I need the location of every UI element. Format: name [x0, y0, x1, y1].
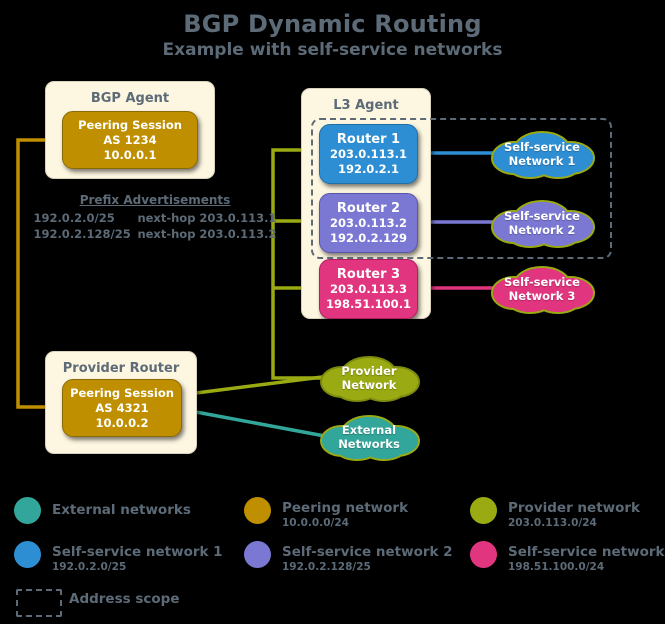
- address-scope-boundary: [311, 118, 612, 259]
- provider-network-swatch-icon: [470, 497, 497, 524]
- router-3-name: Router 3: [337, 267, 400, 282]
- bgp-agent-title: BGP Agent: [46, 91, 214, 106]
- cloud-external-line2: Networks: [338, 437, 400, 451]
- external-networks-swatch-icon: [14, 497, 41, 524]
- legend-label: Self-service network 1: [52, 544, 223, 560]
- legend-sublabel: 10.0.0.0/24: [282, 516, 408, 530]
- provider-peering-as: AS 4321: [95, 401, 148, 416]
- legend: External networks Peering network 10.0.0…: [0, 487, 665, 624]
- legend-label: Peering network: [282, 500, 408, 516]
- cloud-external-networks[interactable]: External Networks: [315, 412, 423, 462]
- legend-label: Address scope: [69, 591, 180, 607]
- legend-sublabel: 192.0.2.128/25: [282, 560, 453, 574]
- provider-peering-ip: 10.0.0.2: [95, 416, 148, 431]
- router-3[interactable]: Router 3 203.0.113.3 198.51.100.1: [319, 259, 418, 319]
- prefix-advertisements-heading: Prefix Advertisements: [30, 193, 280, 207]
- legend-label: Self-service network 3: [508, 544, 665, 560]
- cloud-selfservice-network-3[interactable]: Self-service Network 3: [486, 263, 598, 315]
- prefix-row: 192.0.2.0/25 next-hop 203.0.113.1: [30, 210, 280, 226]
- provider-router-title: Provider Router: [46, 361, 196, 376]
- peering-network-swatch-icon: [244, 497, 271, 524]
- prefix-row: 192.0.2.128/25 next-hop 203.0.113.2: [30, 226, 280, 242]
- cloud-provider-line2: Network: [342, 378, 397, 392]
- page-subtitle: Example with self-service networks: [0, 40, 665, 60]
- bgp-peering-label: Peering Session: [78, 118, 182, 133]
- cloud-selfservice-3-line1: Self-service: [504, 275, 580, 289]
- bgp-peering-as: AS 1234: [103, 133, 156, 148]
- prefix-value: 192.0.2.128/25: [33, 226, 137, 242]
- router-3-ip2: 198.51.100.1: [326, 297, 411, 312]
- page-title: BGP Dynamic Routing: [0, 10, 665, 38]
- cloud-external-line1: External: [342, 423, 396, 437]
- prefix-nexthop: next-hop 203.0.113.1: [137, 210, 276, 226]
- router-3-ip1: 203.0.113.3: [330, 282, 407, 297]
- legend-sublabel: 203.0.113.0/24: [508, 516, 640, 530]
- prefix-nexthop: next-hop 203.0.113.2: [137, 226, 276, 242]
- selfservice-1-swatch-icon: [14, 541, 41, 568]
- bgp-peering-ip: 10.0.0.1: [103, 148, 156, 163]
- bgp-agent-peering-session[interactable]: Peering Session AS 1234 10.0.0.1: [62, 111, 198, 169]
- nodes-layer: BGP Dynamic Routing Example with self-se…: [0, 0, 665, 624]
- cloud-selfservice-3-line2: Network 3: [509, 289, 576, 303]
- prefix-advertisements: Prefix Advertisements 192.0.2.0/25 next-…: [30, 193, 280, 242]
- l3-agent-title: L3 Agent: [302, 98, 430, 113]
- provider-router-peering-session[interactable]: Peering Session AS 4321 10.0.0.2: [62, 379, 182, 437]
- cloud-provider-line1: Provider: [341, 364, 396, 378]
- address-scope-swatch-icon: [16, 589, 62, 617]
- legend-label: Self-service network 2: [282, 544, 453, 560]
- legend-sublabel: 198.51.100.0/24: [508, 560, 665, 574]
- selfservice-2-swatch-icon: [244, 541, 271, 568]
- diagram-canvas: BGP Dynamic Routing Example with self-se…: [0, 0, 665, 624]
- legend-label: External networks: [52, 497, 191, 524]
- provider-peering-label: Peering Session: [70, 386, 174, 401]
- legend-item-address-scope[interactable]: Address scope: [14, 587, 274, 617]
- cloud-provider-network[interactable]: Provider Network: [315, 353, 423, 403]
- legend-label: Provider network: [508, 500, 640, 516]
- legend-sublabel: 192.0.2.0/25: [52, 560, 223, 574]
- selfservice-3-swatch-icon: [470, 541, 497, 568]
- prefix-value: 192.0.2.0/25: [33, 210, 137, 226]
